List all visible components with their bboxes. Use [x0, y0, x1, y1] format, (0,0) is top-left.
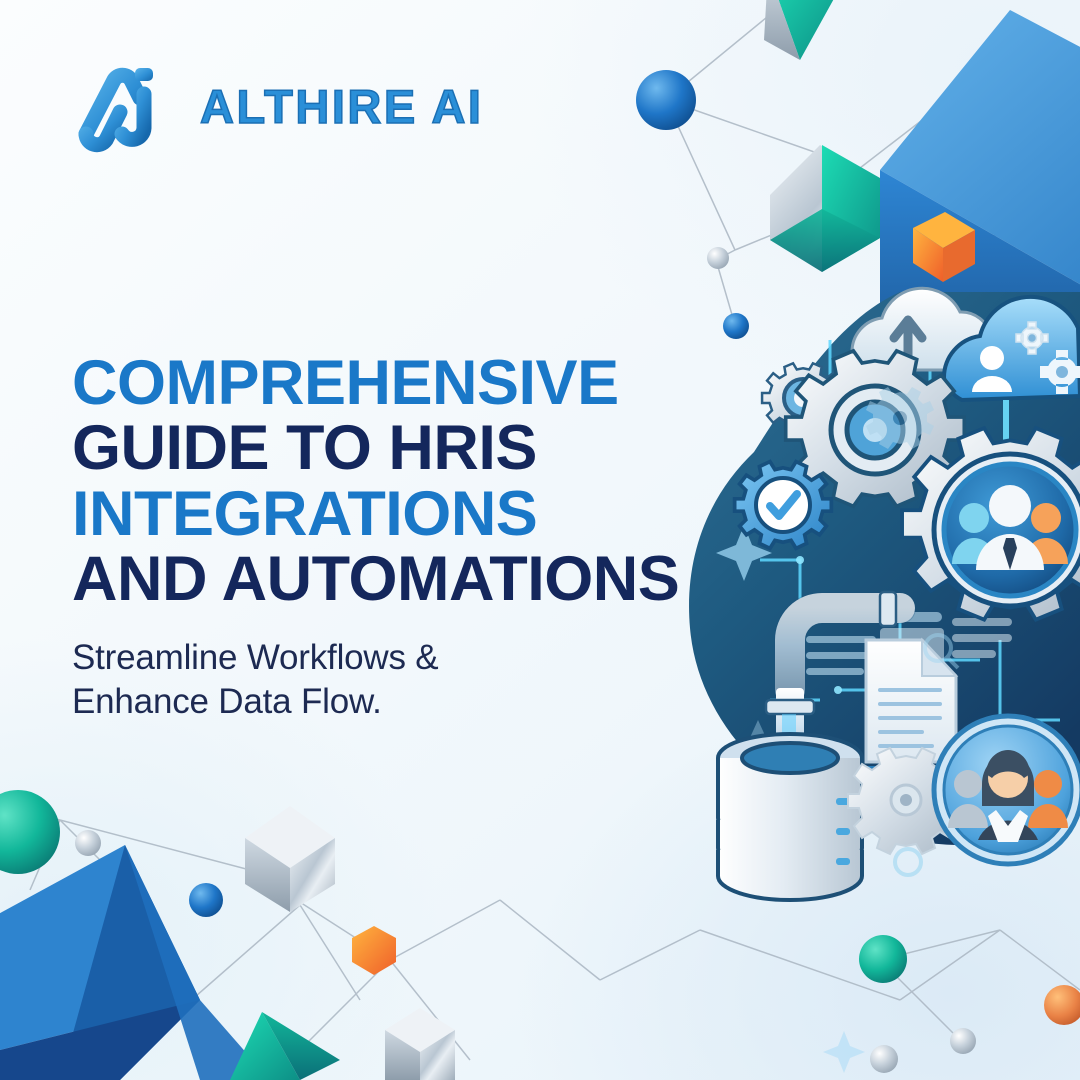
headline-line-4: AND AUTOMATIONS: [72, 548, 712, 610]
brand-logo[interactable]: ALTHIRE AI: [74, 58, 483, 154]
headline-line-1: COMPREHENSIVE: [72, 352, 712, 414]
headline-line-3: INTEGRATIONS: [72, 483, 712, 545]
subtitle-line-2: Enhance Data Flow.: [72, 680, 712, 724]
hero-text-block: COMPREHENSIVE GUIDE TO HRIS INTEGRATIONS…: [72, 352, 712, 724]
poster-canvas: ALTHIRE AI COMPREHENSIVE GUIDE TO HRIS I…: [0, 0, 1080, 1080]
brand-name: ALTHIRE AI: [200, 79, 483, 134]
subtitle-line-1: Streamline Workflows &: [72, 636, 712, 680]
subtitle: Streamline Workflows & Enhance Data Flow…: [72, 636, 712, 724]
headline-line-2: GUIDE TO HRIS: [72, 417, 712, 479]
people-gear-badge-icon: [902, 428, 1080, 620]
circle-outline-icon: [895, 849, 921, 875]
hr-team-avatar-icon: [934, 716, 1080, 864]
althire-ai-monogram-icon: [74, 58, 184, 154]
database-stack-icon: [718, 734, 862, 900]
